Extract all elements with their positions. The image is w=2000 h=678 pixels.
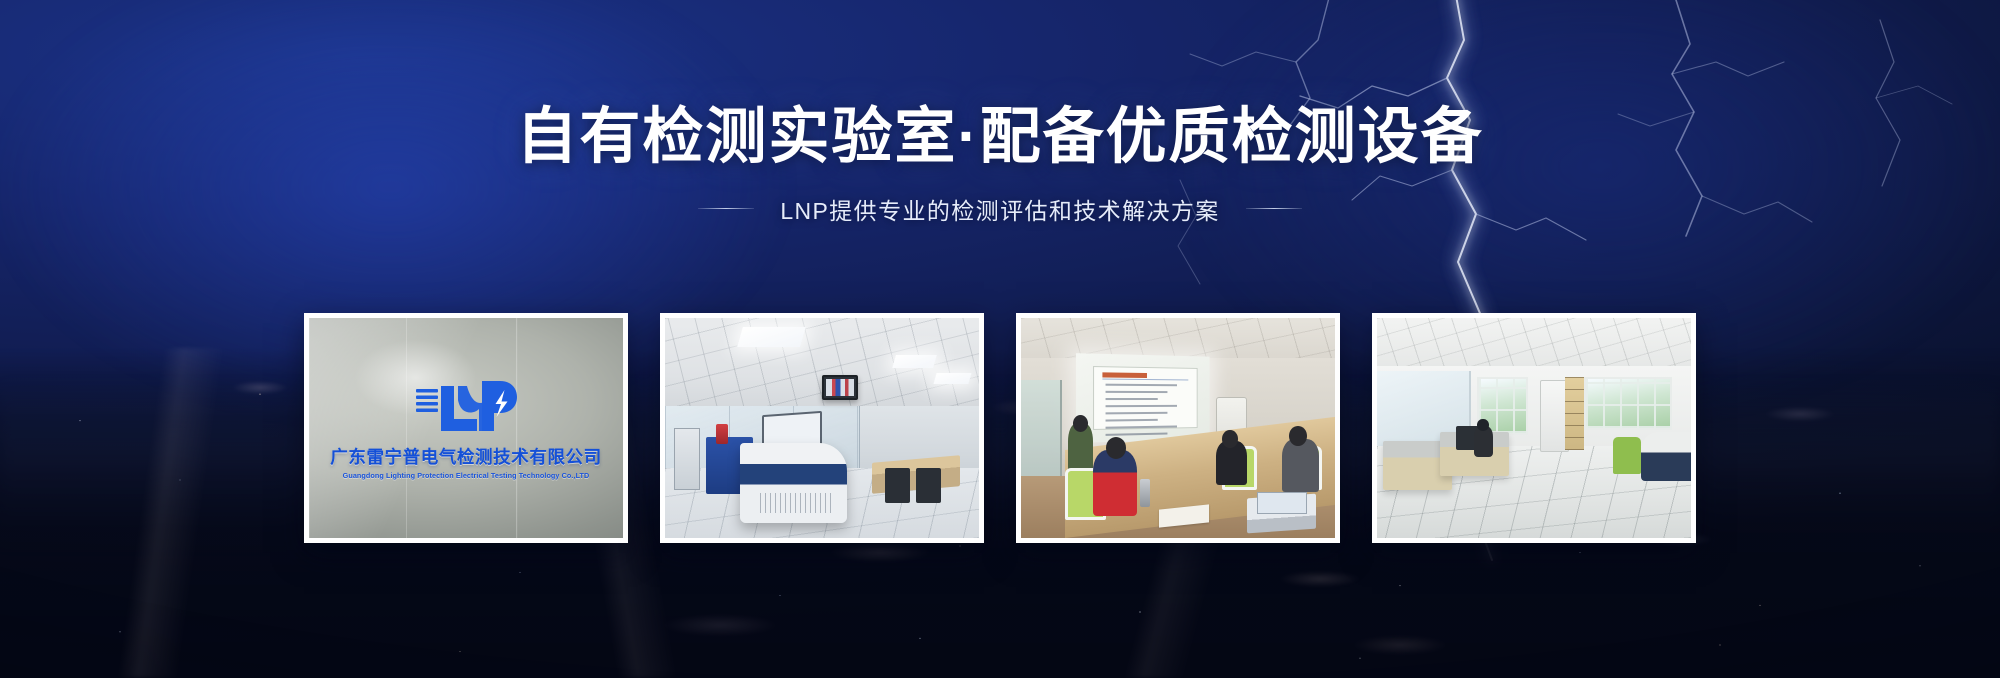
laboratory-scene (665, 318, 979, 538)
person-seated (1093, 450, 1137, 516)
photo-card-office[interactable] (1372, 313, 1696, 543)
photo-card-laboratory[interactable] (660, 313, 984, 543)
office-chair (916, 468, 941, 503)
photo-card-company-sign[interactable]: 广东雷宁普电气检测技术有限公司 Guangdong Lighting Prote… (304, 313, 628, 543)
reception-counter (1641, 432, 1691, 480)
subtitle-row: LNP提供专业的检测评估和技术解决方案 (0, 192, 2000, 226)
person-head (1477, 419, 1488, 431)
logo-row (309, 376, 623, 438)
sign-company-name-en: Guangdong Lighting Protection Electrical… (309, 471, 623, 480)
window (1584, 377, 1672, 430)
control-console (740, 443, 847, 522)
laptop-screen (1257, 492, 1307, 514)
ceiling-light-panel (933, 373, 971, 384)
em-dash-rule-left-icon (698, 208, 754, 209)
lnp-logo-icon (412, 378, 520, 436)
person-head (1106, 437, 1126, 459)
person-head (1222, 430, 1238, 448)
meeting-room-photo (1021, 318, 1335, 538)
storage-cabinet (1540, 380, 1568, 453)
person-head (1289, 426, 1307, 446)
meeting-room-scene (1021, 318, 1335, 538)
glass-door (1021, 380, 1062, 481)
hero-text-block: 自有检测实验室·配备优质检测设备 LNP提供专业的检测评估和技术解决方案 (0, 104, 2000, 226)
laboratory-photo (665, 318, 979, 538)
photo-card-meeting-room[interactable] (1016, 313, 1340, 543)
photo-card-gallery: 广东雷宁普电气检测技术有限公司 Guangdong Lighting Prote… (304, 313, 1696, 543)
ceiling-light-panel (892, 355, 937, 368)
slide-text-lines (1105, 384, 1189, 423)
office-photo (1377, 318, 1691, 538)
em-dash-rule-right-icon (1246, 208, 1302, 209)
wall-monitor (822, 375, 858, 400)
hero-banner: 自有检测实验室·配备优质检测设备 LNP提供专业的检测评估和技术解决方案 (0, 0, 2000, 678)
slide-title-bar (1102, 373, 1146, 378)
office-scene (1377, 318, 1691, 538)
sign-content: 广东雷宁普电气检测技术有限公司 Guangdong Lighting Prote… (309, 376, 623, 480)
thermos-cup (1140, 479, 1149, 508)
page-subtitle: LNP提供专业的检测评估和技术解决方案 (780, 192, 1219, 226)
person-seated (1282, 439, 1320, 492)
sign-company-name-cn: 广东雷宁普电气检测技术有限公司 (309, 444, 623, 469)
wooden-shelf (1565, 377, 1584, 450)
ceiling-light-panel (738, 327, 806, 347)
page-title: 自有检测实验室·配备优质检测设备 (0, 104, 2000, 170)
projection-screen (1076, 354, 1210, 443)
office-chair (885, 468, 910, 503)
person-seated (1216, 441, 1247, 485)
lab-equipment-rack (674, 428, 699, 490)
visitor-chair (1613, 437, 1641, 474)
presentation-slide (1093, 366, 1197, 430)
company-sign-photo: 广东雷宁普电气检测技术有限公司 Guangdong Lighting Prote… (309, 318, 623, 538)
slide-rule (1102, 379, 1188, 381)
